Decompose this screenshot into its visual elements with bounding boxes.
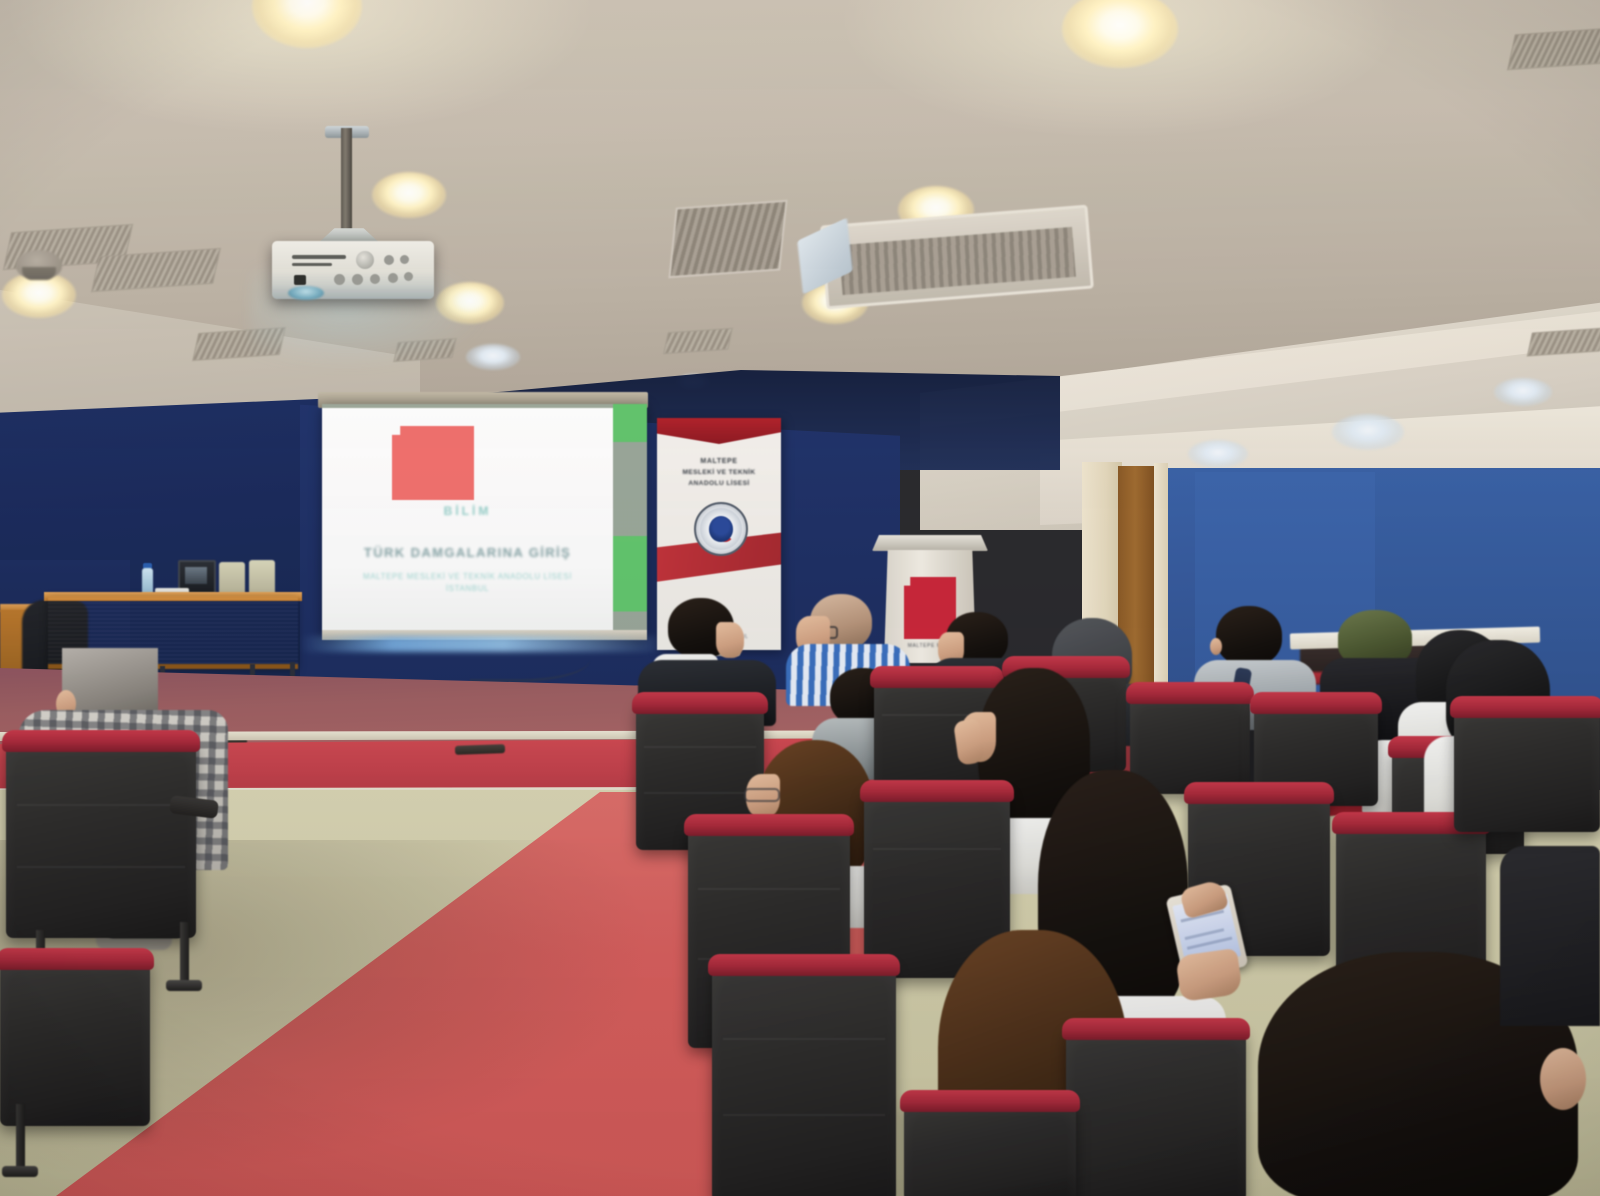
- seat-foot: [166, 980, 202, 991]
- slide-logo: [392, 426, 474, 500]
- stage-floor-vent: [455, 744, 505, 755]
- person-right-shoulder: [1500, 846, 1600, 1026]
- slide-brand-text: BİLİM: [322, 504, 613, 518]
- seat-foot: [2, 1166, 38, 1177]
- school-crest-icon: [694, 502, 748, 556]
- podium-top-surface: [872, 535, 988, 551]
- speaker-right: [249, 560, 275, 596]
- recessed-downlight: [1332, 414, 1404, 450]
- recessed-downlight: [1494, 378, 1552, 406]
- banner-line-2: MESLEKİ VE TEKNİK: [657, 469, 781, 476]
- ear: [1210, 638, 1222, 655]
- hvac-vent: [1527, 328, 1600, 357]
- auditorium-seat[interactable]: [0, 956, 150, 1126]
- auditorium-seat[interactable]: [1066, 1026, 1246, 1196]
- banner-line-3: ANADOLU LİSESİ: [657, 480, 781, 487]
- auditorium-seat[interactable]: [712, 962, 896, 1196]
- projection-screen: BİLİM TÜRK DAMGALARINA GİRİŞ MALTEPE MES…: [322, 404, 647, 640]
- auditorium-seat[interactable]: [904, 1098, 1076, 1196]
- recessed-downlight: [372, 172, 446, 218]
- crest-inner-mark: [716, 522, 734, 542]
- eyeglasses-icon: [744, 788, 780, 802]
- speaker-left: [219, 562, 245, 596]
- seat-leg: [180, 922, 189, 988]
- projector-lens: [288, 286, 324, 300]
- smoke-detector-icon: [16, 250, 62, 280]
- auditorium-photo: BİLİM TÜRK DAMGALARINA GİRİŞ MALTEPE MES…: [0, 0, 1600, 1196]
- recessed-downlight: [1188, 440, 1248, 468]
- head: [1216, 606, 1282, 666]
- ear: [1540, 1048, 1586, 1110]
- slide-content: BİLİM TÜRK DAMGALARINA GİRİŞ MALTEPE MES…: [322, 408, 613, 634]
- auditorium-seat[interactable]: [1454, 704, 1600, 832]
- banner-line-1: MALTEPE: [657, 458, 781, 465]
- seat-leg: [16, 1104, 25, 1174]
- slide-subtitle-2: İSTANBUL: [322, 584, 613, 593]
- door-frame: [1154, 463, 1168, 712]
- banner-top-graphic: [657, 418, 781, 444]
- hvac-supply-grille: [668, 200, 787, 279]
- slide-title-text: TÜRK DAMGALARINA GİRİŞ: [322, 545, 613, 560]
- auditorium-seat[interactable]: [6, 738, 196, 938]
- slide-subtitle-1: MALTEPE MESLEKİ VE TEKNİK ANADOLU LİSESİ: [322, 572, 613, 581]
- face: [716, 622, 744, 658]
